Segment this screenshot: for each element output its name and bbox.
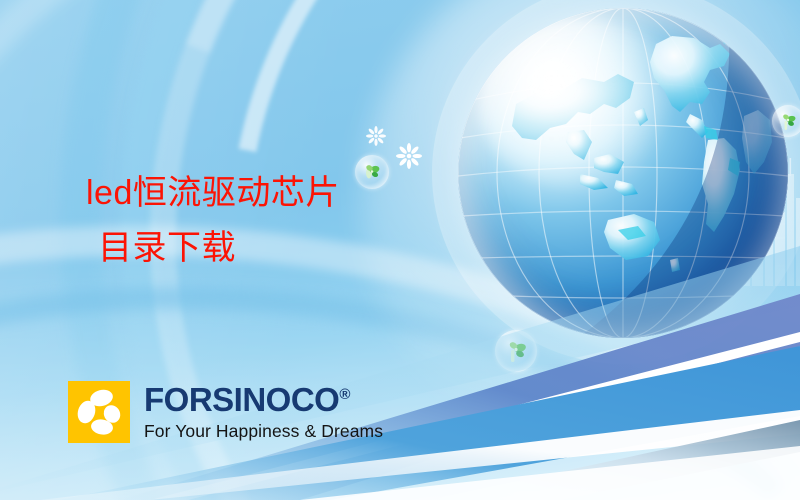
- soap-bubble: [772, 105, 800, 137]
- registered-trademark-symbol: ®: [339, 386, 350, 403]
- pinwheel-icon: [495, 330, 537, 372]
- brand-name: FORSINOCO®: [144, 383, 383, 416]
- promo-banner: led恒流驱动芯片 目录下载 FORSINOCO® For Your Happi…: [0, 0, 800, 500]
- banner-headline: led恒流驱动芯片 目录下载: [86, 166, 340, 276]
- headline-line-1: led恒流驱动芯片: [86, 166, 340, 221]
- soap-bubble: [495, 330, 537, 372]
- soap-bubble: [355, 155, 389, 189]
- globe-rim-light: [458, 8, 788, 338]
- pinwheel-icon: [355, 155, 389, 189]
- forsinoco-pinwheel-mark-icon: [68, 381, 130, 443]
- brand-logo[interactable]: FORSINOCO® For Your Happiness & Dreams: [68, 381, 383, 443]
- brand-tagline: For Your Happiness & Dreams: [144, 423, 383, 441]
- headline-line-2: 目录下载: [86, 221, 340, 276]
- brand-name-text: FORSINOCO: [144, 381, 339, 418]
- world-globe: [458, 8, 788, 338]
- pinwheel-icon: [772, 105, 800, 137]
- brand-wordmark-group: FORSINOCO® For Your Happiness & Dreams: [144, 383, 383, 441]
